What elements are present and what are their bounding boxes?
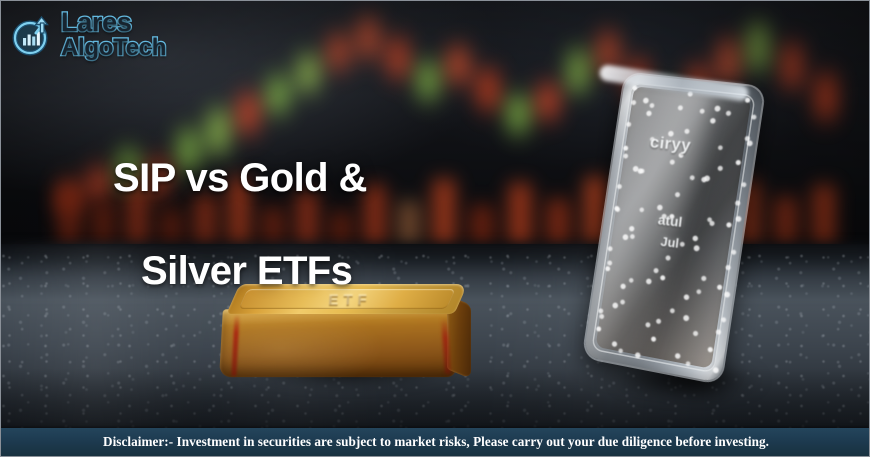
brand-logo[interactable]: Lares AlgoTech [11, 9, 166, 59]
silver-bar-emboss-line2: atul [657, 211, 683, 230]
page-title-line2: Silver ETFs [113, 248, 367, 294]
page-title: SIP vs Gold & Silver ETFs [113, 109, 367, 341]
brand-wordmark: Lares AlgoTech [61, 9, 166, 59]
promo-banner: ETF ciryy atul Jul [0, 0, 870, 457]
silver-bar-emboss-line3: Jul [660, 234, 680, 251]
brand-name-line2: AlgoTech [61, 37, 166, 59]
silver-bar-emboss-line1: ciryy [649, 133, 692, 156]
brand-name-line1: Lares [61, 10, 166, 35]
bar-chart-arrow-circle-icon [11, 11, 57, 57]
silver-bar-body: ciryy atul Jul [584, 74, 765, 383]
page-title-line1: SIP vs Gold & [113, 155, 367, 201]
disclaimer-text: Disclaimer:- Investment in securities ar… [103, 434, 769, 450]
silver-bar: ciryy atul Jul [577, 71, 797, 401]
disclaimer-bar: Disclaimer:- Investment in securities ar… [1, 428, 870, 456]
